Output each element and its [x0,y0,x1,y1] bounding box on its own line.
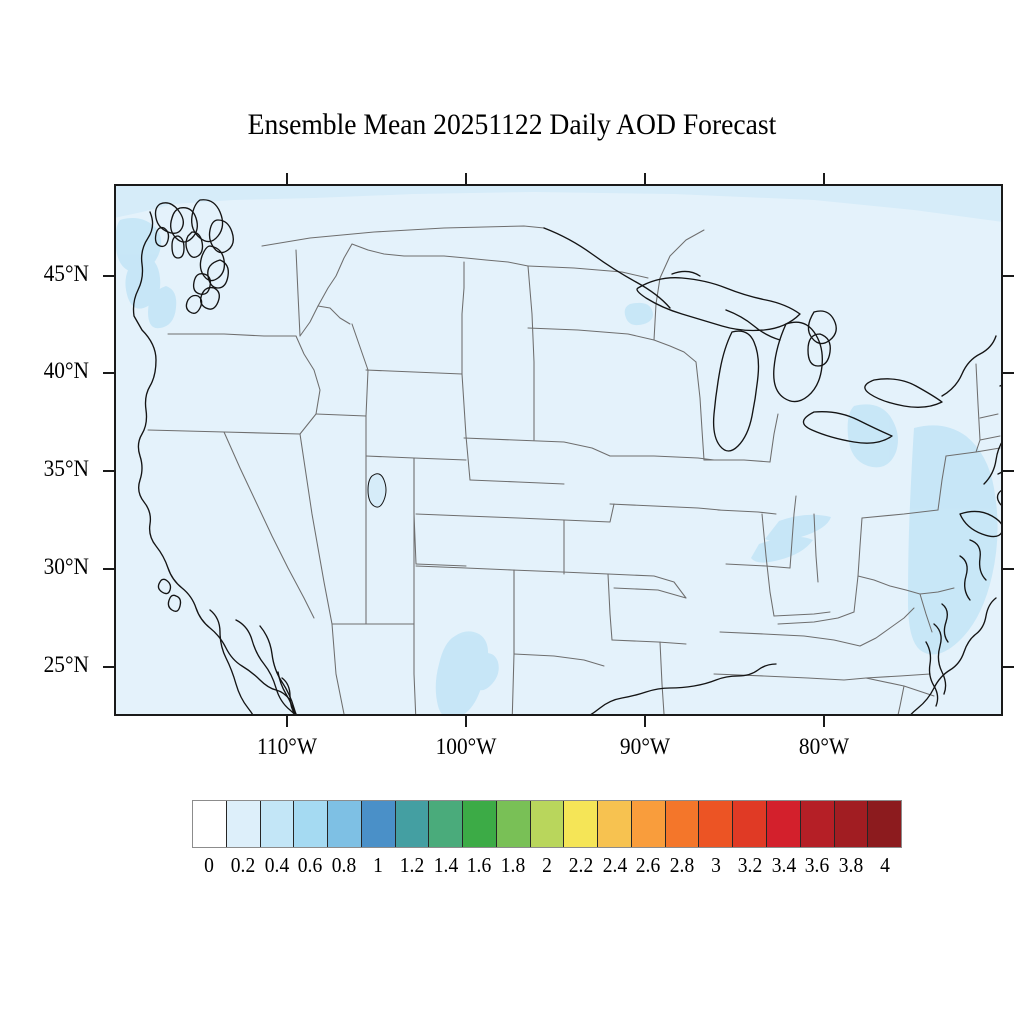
colorbar-cell-5 [362,801,396,847]
colorbar-label-9: 1.8 [501,853,525,878]
colorbar-label-2: 0.4 [264,853,288,878]
y-tick-right-2 [1003,470,1014,472]
colorbar-label-8: 1.6 [467,853,491,878]
y-tick-label-1: 40°N [0,358,89,384]
colorbar-label-19: 3.8 [839,853,863,878]
colorbar-cell-13 [632,801,666,847]
colorbar-cell-7 [429,801,463,847]
colorbar-label-17: 3.4 [771,853,795,878]
y-tick-0 [103,275,114,277]
colorbar-label-10: 2 [542,853,552,878]
colorbar-cell-18 [801,801,835,847]
colorbar-label-15: 3 [711,853,721,878]
colorbar-label-4: 0.8 [332,853,356,878]
x-tick-top-3 [823,173,825,184]
colorbar-label-3: 0.6 [298,853,322,878]
colorbar-label-18: 3.6 [805,853,829,878]
y-tick-4 [103,666,114,668]
colorbar-label-14: 2.8 [670,853,694,878]
colorbar-cell-15 [699,801,733,847]
colorbar-cell-16 [733,801,767,847]
colorbar-cell-8 [463,801,497,847]
colorbar-cell-4 [328,801,362,847]
x-tick-1 [465,716,467,727]
x-tick-top-0 [286,173,288,184]
x-tick-label-0: 110°W [232,734,344,760]
y-tick-2 [103,470,114,472]
x-tick-0 [286,716,288,727]
y-tick-label-2: 35°N [0,456,89,482]
y-tick-right-1 [1003,372,1014,374]
y-tick-3 [103,568,114,570]
x-tick-label-1: 100°W [410,734,522,760]
colorbar-label-13: 2.6 [636,853,660,878]
colorbar-cell-17 [767,801,801,847]
colorbar-label-20: 4 [880,853,890,878]
y-tick-right-4 [1003,666,1014,668]
colorbar-cell-10 [531,801,565,847]
map-frame [114,184,1003,716]
colorbar-cell-19 [835,801,869,847]
y-tick-label-0: 45°N [0,261,89,287]
colorbar-tick-labels: 00.20.40.60.811.21.41.61.822.22.42.62.83… [192,853,902,883]
colorbar[interactable] [192,800,902,848]
y-tick-label-4: 25°N [0,652,89,678]
x-tick-2 [644,716,646,727]
colorbar-label-16: 3.2 [738,853,762,878]
colorbar-label-12: 2.4 [602,853,626,878]
x-tick-label-2: 90°W [589,734,701,760]
colorbar-cell-20 [868,801,901,847]
x-tick-label-3: 80°W [768,734,880,760]
colorbar-cell-6 [396,801,430,847]
colorbar-label-7: 1.4 [433,853,457,878]
x-tick-3 [823,716,825,727]
figure-title: Ensemble Mean 20251122 Daily AOD Forecas… [41,108,983,142]
colorbar-cell-0 [193,801,227,847]
colorbar-cells [192,800,902,848]
figure-canvas: Ensemble Mean 20251122 Daily AOD Forecas… [0,0,1024,1024]
x-tick-top-2 [644,173,646,184]
map-panel[interactable] [114,184,1003,716]
colorbar-cell-3 [294,801,328,847]
colorbar-cell-11 [564,801,598,847]
colorbar-cell-14 [666,801,700,847]
colorbar-label-11: 2.2 [569,853,593,878]
x-tick-top-1 [465,173,467,184]
y-tick-right-3 [1003,568,1014,570]
y-tick-label-3: 30°N [0,554,89,580]
colorbar-label-6: 1.2 [400,853,424,878]
y-tick-right-0 [1003,275,1014,277]
colorbar-cell-2 [261,801,295,847]
colorbar-cell-1 [227,801,261,847]
colorbar-label-1: 0.2 [230,853,254,878]
colorbar-label-5: 1 [373,853,383,878]
colorbar-cell-12 [598,801,632,847]
y-tick-1 [103,372,114,374]
colorbar-cell-9 [497,801,531,847]
colorbar-label-0: 0 [204,853,214,878]
